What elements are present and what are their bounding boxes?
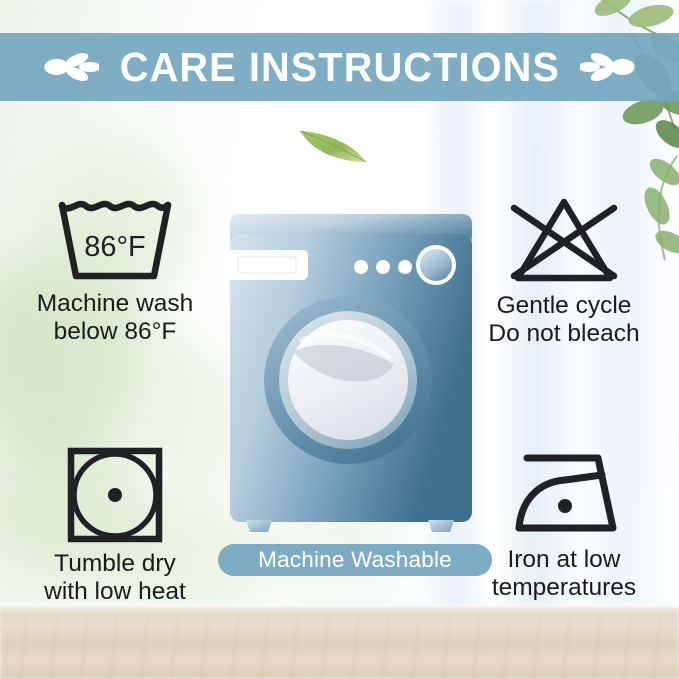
care-instructions-infographic: CARE INSTRUCTIONS 86°F Machine wash belo…: [0, 0, 679, 679]
fleur-de-lis-icon: [43, 46, 99, 88]
care-item-label: Machine wash below 86°F: [37, 290, 194, 347]
care-item-iron-low: Iron at low temperatures: [449, 450, 679, 603]
fleur-de-lis-icon: [580, 46, 636, 88]
triangle-crossed-out-icon: [504, 196, 624, 286]
leaf-icon: [296, 122, 370, 166]
care-item-machine-wash: 86°F Machine wash below 86°F: [0, 200, 230, 347]
status-badge-label: Machine Washable: [258, 549, 452, 572]
tumble-dry-low-icon: [66, 446, 164, 544]
care-item-do-not-bleach: Gentle cycle Do not bleach: [449, 196, 679, 349]
care-item-label: Gentle cycle Do not bleach: [488, 292, 639, 349]
care-item-label: Tumble dry with low heat: [44, 550, 186, 607]
iron-one-dot-icon: [501, 450, 627, 540]
care-item-label: Iron at low temperatures: [492, 546, 636, 603]
front-load-washing-machine-illustration: [228, 212, 474, 532]
wash-tub-icon: 86°F: [56, 200, 174, 284]
care-item-tumble-dry: Tumble dry with low heat: [0, 446, 230, 607]
page-title: CARE INSTRUCTIONS: [119, 47, 559, 88]
wood-grain-texture: [0, 619, 679, 679]
status-badge: Machine Washable: [218, 544, 492, 576]
header-banner: CARE INSTRUCTIONS: [0, 33, 679, 101]
wash-temperature-value: 86°F: [84, 231, 146, 263]
